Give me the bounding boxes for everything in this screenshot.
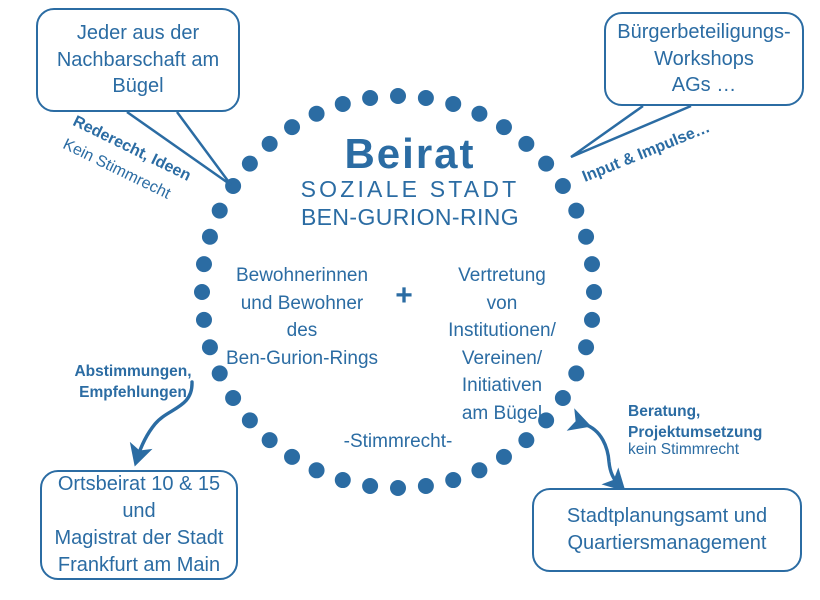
ring-dot	[390, 88, 406, 104]
group-residents: Bewohnerinnen und Bewohner des Ben-Gurio…	[212, 262, 392, 372]
ring-dot	[584, 256, 600, 272]
ring-dot	[194, 284, 210, 300]
ring-dot	[225, 390, 241, 406]
ring-dot	[471, 462, 487, 478]
ring-dot	[578, 339, 594, 355]
ring-dot	[362, 478, 378, 494]
ring-dot	[390, 480, 406, 496]
box-stadtplanungsamt-quartiersmanagement[interactable]: Stadtplanungsamt und Quartiersmanagement	[532, 488, 802, 572]
box-ortsbeirat-magistrat[interactable]: Ortsbeirat 10 & 15 und Magistrat der Sta…	[40, 470, 238, 580]
ring-dot	[584, 312, 600, 328]
group-institutions: Vertretung von Institutionen/ Vereinen/ …	[424, 262, 580, 427]
ring-dot	[196, 256, 212, 272]
ring-dot	[445, 96, 461, 112]
ring-dot	[445, 472, 461, 488]
ring-dot	[196, 312, 212, 328]
ring-dot	[202, 229, 218, 245]
voting-right-note: -Stimmrecht-	[288, 430, 508, 453]
diagram-canvas: Jeder aus der Nachbarschaft am Bügel Bür…	[0, 0, 820, 600]
subtitle-ben-gurion-ring: BEN-GURION-RING	[0, 203, 820, 231]
plus-icon: +	[392, 278, 416, 315]
speech-bubble-neighbourhood[interactable]: Jeder aus der Nachbarschaft am Bügel	[36, 8, 240, 112]
ring-dot	[242, 412, 258, 428]
arrow-ring-stadtplanung	[584, 424, 620, 486]
ring-dot	[335, 96, 351, 112]
ring-dot	[518, 432, 534, 448]
ring-dot	[471, 106, 487, 122]
ring-dot	[309, 106, 325, 122]
label-abstimmungen-empfehlungen: Abstimmungen, Empfehlungen	[48, 362, 218, 404]
speech-bubble-participation[interactable]: Bürgerbeteiligungs- Workshops AGs …	[604, 12, 804, 106]
ring-dot	[586, 284, 602, 300]
ring-dot	[418, 478, 434, 494]
label-kein-stimmrecht-right: kein Stimmrecht	[628, 441, 808, 460]
ring-dot	[418, 90, 434, 106]
ring-dot	[309, 462, 325, 478]
label-beratung-projektumsetzung: Beratung, Projektumsetzung	[628, 402, 808, 444]
ring-dot	[335, 472, 351, 488]
ring-dot	[262, 432, 278, 448]
ring-dot	[578, 229, 594, 245]
ring-dot	[362, 90, 378, 106]
